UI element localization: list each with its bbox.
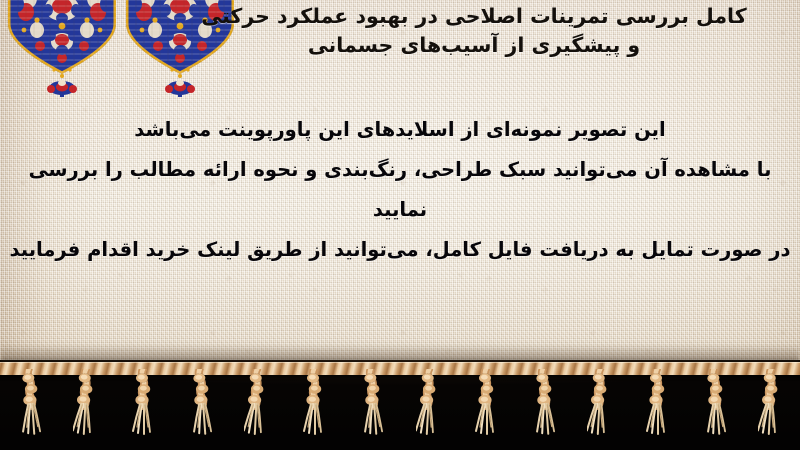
fringe-tassel bbox=[416, 369, 442, 441]
persian-medallion-icon bbox=[4, 0, 120, 100]
slide-title-line-2: و پیشگیری از آسیب‌های جسمانی bbox=[174, 31, 774, 60]
slide-body-line-3: در صورت تمایل به دریافت فایل کامل، می‌تو… bbox=[0, 230, 800, 270]
slide-body: این تصویر نمونه‌ای از اسلایدهای این پاور… bbox=[0, 110, 800, 270]
fringe-tassel bbox=[244, 369, 270, 441]
slide-title-line-1: کامل بررسی تمرینات اصلاحی در بهبود عملکر… bbox=[174, 2, 774, 31]
slide-body-line-2: با مشاهده آن می‌توانید سبک طراحی، رنگ‌بن… bbox=[0, 150, 800, 230]
carpet-fringe bbox=[0, 360, 800, 450]
fringe-tassel bbox=[73, 369, 99, 441]
fringe-deep-shadow bbox=[0, 408, 800, 450]
fringe-tassel bbox=[644, 369, 670, 441]
motif-pendant-icon bbox=[47, 80, 77, 97]
fringe-tassel bbox=[358, 369, 384, 441]
fringe-tassel bbox=[16, 369, 42, 441]
presentation-slide: کامل بررسی تمرینات اصلاحی در بهبود عملکر… bbox=[0, 0, 800, 450]
fringe-tassel bbox=[301, 369, 327, 441]
slide-body-line-1: این تصویر نمونه‌ای از اسلایدهای این پاور… bbox=[0, 110, 800, 150]
fringe-tassel bbox=[701, 369, 727, 441]
fringe-tassel bbox=[473, 369, 499, 441]
slide-title: کامل بررسی تمرینات اصلاحی در بهبود عملکر… bbox=[174, 2, 774, 60]
fringe-tassel bbox=[530, 369, 556, 441]
fringe-tassel bbox=[758, 369, 784, 441]
fringe-tassel bbox=[130, 369, 156, 441]
motif-pendant-icon bbox=[165, 80, 195, 97]
fringe-rope bbox=[0, 362, 800, 375]
fringe-tassel bbox=[587, 369, 613, 441]
fringe-tassel bbox=[187, 369, 213, 441]
